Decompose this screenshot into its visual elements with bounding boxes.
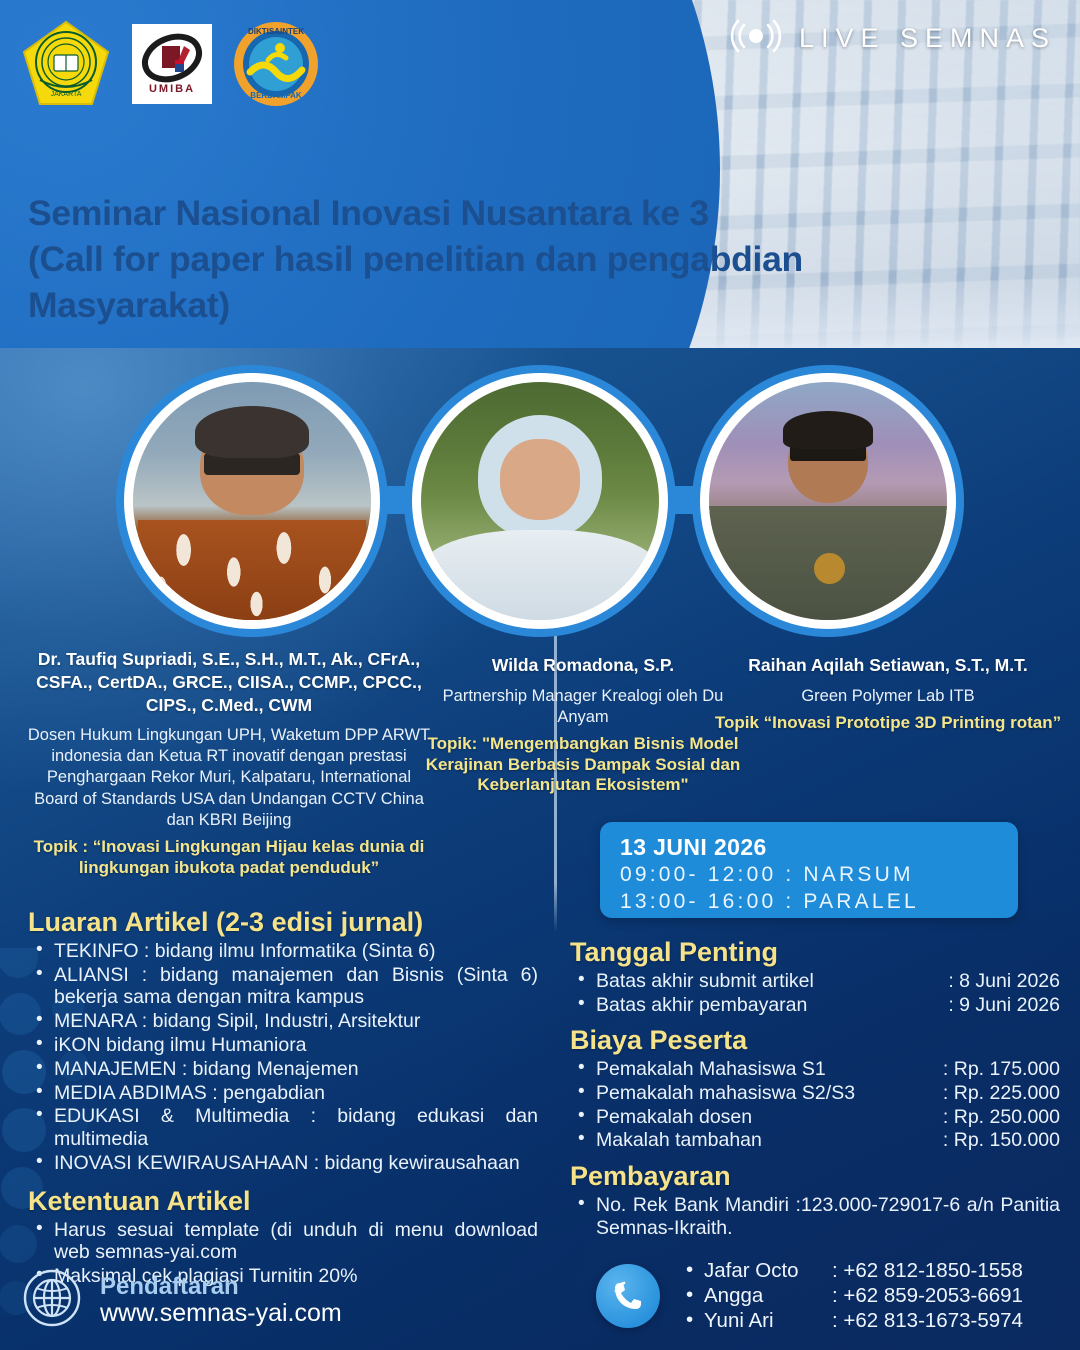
live-badge: LIVE SEMNAS xyxy=(729,18,1056,59)
speaker-name-3: Raihan Aqilah Setiawan, S.T., M.T. xyxy=(712,654,1064,677)
list-item: INOVASI KEWIRAUSAHAAN : bidang kewirausa… xyxy=(28,1152,538,1175)
registration-url[interactable]: www.semnas-yai.com xyxy=(100,1299,342,1328)
diktisaintek-logo: DIKTISAINTEK BERDAMPAK xyxy=(232,20,320,113)
title-line-2: (Call for paper hasil penelitian dan pen… xyxy=(28,236,988,282)
speaker-photos xyxy=(0,360,1080,640)
list-item: iKON bidang ilmu Humaniora xyxy=(28,1034,538,1057)
tanggal-penting-list: Batas akhir submit artikel: 8 Juni 2026 … xyxy=(570,970,1060,1017)
speaker-topic-2: Topik: "Mengembangkan Bisnis Model Keraj… xyxy=(418,734,748,796)
row-label: Batas akhir submit artikel xyxy=(596,970,814,993)
biaya-list: Pemakalah Mahasiswa S1: Rp. 175.000 Pema… xyxy=(570,1058,1060,1152)
registration-block[interactable]: Pendaftaran www.semnas-yai.com xyxy=(22,1268,342,1333)
row-value: : Rp. 225.000 xyxy=(943,1082,1060,1105)
right-column: Tanggal Penting Batas akhir submit artik… xyxy=(570,938,1060,1241)
row-value: : Rp. 175.000 xyxy=(943,1058,1060,1081)
biaya-heading: Biaya Peserta xyxy=(570,1026,1060,1056)
speaker-name-1: Dr. Taufiq Supriadi, S.E., S.H., M.T., A… xyxy=(24,648,434,716)
speaker-desc-3: Green Polymer Lab ITB xyxy=(712,686,1064,707)
row-value: : Rp. 150.000 xyxy=(943,1129,1060,1152)
title-line-3: Masyarakat) xyxy=(28,282,988,328)
row-label: Makalah tambahan xyxy=(596,1129,762,1152)
svg-text:DIKTISAINTEK: DIKTISAINTEK xyxy=(248,27,304,36)
svg-text:BERDAMPAK: BERDAMPAK xyxy=(250,91,302,100)
contact-phone[interactable]: : +62 812-1850-1558 xyxy=(832,1258,1023,1283)
speaker-avatar-3 xyxy=(692,365,964,637)
event-time-narsum: 09:00- 12:00 : NARSUM xyxy=(620,861,998,888)
contact-phone[interactable]: : +62 859-2053-6691 xyxy=(832,1283,1023,1308)
list-item: MEDIA ABDIMAS : pengabdian xyxy=(28,1082,538,1105)
speaker-topic-1: Topik : “Inovasi Lingkungan Hijau kelas … xyxy=(24,837,434,878)
contact-name: Yuni Ari xyxy=(704,1308,832,1333)
registration-text: Pendaftaran www.semnas-yai.com xyxy=(100,1274,342,1328)
contact-name: Jafar Octo xyxy=(704,1258,832,1283)
pembayaran-list: No. Rek Bank Mandiri :123.000-729017-6 a… xyxy=(570,1194,1060,1240)
speaker-desc-1: Dosen Hukum Lingkungan UPH, Waketum DPP … xyxy=(24,725,434,831)
list-item: Pemakalah mahasiswa S2/S3: Rp. 225.000 xyxy=(570,1082,1060,1105)
list-item: Batas akhir submit artikel: 8 Juni 2026 xyxy=(570,970,1060,993)
list-item: Harus sesuai template (di unduh di menu … xyxy=(28,1219,538,1265)
row-label: Batas akhir pembayaran xyxy=(596,994,807,1017)
title-line-1: Seminar Nasional Inovasi Nusantara ke 3 xyxy=(28,190,988,236)
list-item: TEKINFO : bidang ilmu Informatika (Sinta… xyxy=(28,940,538,963)
universitas-persada-indonesia-yai-logo: JAKARTA xyxy=(20,18,112,115)
row-value: : 8 Juni 2026 xyxy=(948,970,1060,993)
svg-text:JAKARTA: JAKARTA xyxy=(51,91,82,98)
list-item: MANAJEMEN : bidang Menajemen xyxy=(28,1058,538,1081)
list-item: ALIANSI : bidang manajemen dan Bisnis (S… xyxy=(28,964,538,1010)
luaran-list: TEKINFO : bidang ilmu Informatika (Sinta… xyxy=(28,940,538,1175)
svg-text:UMIBA: UMIBA xyxy=(149,83,195,95)
speaker-info-3: Raihan Aqilah Setiawan, S.T., M.T. Green… xyxy=(712,654,1064,734)
list-item: Yuni Ari: +62 813-1673-5974 xyxy=(682,1308,1023,1333)
speaker-info-2: Wilda Romadona, S.P. Partnership Manager… xyxy=(418,654,748,796)
speaker-avatar-2 xyxy=(404,365,676,637)
list-item: Pemakalah dosen: Rp. 250.000 xyxy=(570,1106,1060,1129)
poster-header: JAKARTA UMIBA DIKT xyxy=(0,0,1080,348)
luaran-heading: Luaran Artikel (2-3 edisi jurnal) xyxy=(28,908,538,938)
event-date-card: 13 JUNI 2026 09:00- 12:00 : NARSUM 13:00… xyxy=(600,822,1018,918)
speaker-topic-3: Topik “Inovasi Prototipe 3D Printing rot… xyxy=(712,713,1064,734)
poster-title: Seminar Nasional Inovasi Nusantara ke 3 … xyxy=(28,190,988,328)
list-item: No. Rek Bank Mandiri :123.000-729017-6 a… xyxy=(570,1194,1060,1240)
contact-name: Angga xyxy=(704,1283,832,1308)
pembayaran-heading: Pembayaran xyxy=(570,1162,1060,1192)
logo-group: JAKARTA UMIBA DIKT xyxy=(20,18,320,115)
globe-icon xyxy=(22,1268,82,1333)
speaker-name-2: Wilda Romadona, S.P. xyxy=(418,654,748,677)
list-item: Batas akhir pembayaran: 9 Juni 2026 xyxy=(570,994,1060,1017)
list-item: EDUKASI & Multimedia : bidang edukasi da… xyxy=(28,1105,538,1151)
row-label: Pemakalah mahasiswa S2/S3 xyxy=(596,1082,855,1105)
phone-icon xyxy=(596,1264,660,1328)
contact-list: Jafar Octo: +62 812-1850-1558 Angga: +62… xyxy=(682,1258,1023,1333)
speaker-info-1: Dr. Taufiq Supriadi, S.E., S.H., M.T., A… xyxy=(24,648,434,878)
broadcast-icon xyxy=(729,18,783,59)
event-time-paralel: 13:00- 16:00 : PARALEL xyxy=(620,888,998,915)
row-value: : 9 Juni 2026 xyxy=(948,994,1060,1017)
live-badge-label: LIVE SEMNAS xyxy=(799,23,1056,54)
ketentuan-heading: Ketentuan Artikel xyxy=(28,1187,538,1217)
contact-block: Jafar Octo: +62 812-1850-1558 Angga: +62… xyxy=(596,1258,1023,1333)
speaker-avatar-1 xyxy=(116,365,388,637)
contact-phone[interactable]: : +62 813-1673-5974 xyxy=(832,1308,1023,1333)
tanggal-penting-heading: Tanggal Penting xyxy=(570,938,1060,968)
row-label: Pemakalah Mahasiswa S1 xyxy=(596,1058,826,1081)
row-label: Pemakalah dosen xyxy=(596,1106,752,1129)
umiba-logo: UMIBA xyxy=(132,24,212,109)
list-item: Makalah tambahan: Rp. 150.000 xyxy=(570,1129,1060,1152)
left-column: Luaran Artikel (2-3 edisi jurnal) TEKINF… xyxy=(28,908,538,1289)
event-date: 13 JUNI 2026 xyxy=(620,834,998,861)
speaker-desc-2: Partnership Manager Krealogi oleh Du Any… xyxy=(418,686,748,728)
registration-label: Pendaftaran xyxy=(100,1274,342,1299)
list-item: Angga: +62 859-2053-6691 xyxy=(682,1283,1023,1308)
list-item: Jafar Octo: +62 812-1850-1558 xyxy=(682,1258,1023,1283)
list-item: MENARA : bidang Sipil, Industri, Arsitek… xyxy=(28,1010,538,1033)
row-value: : Rp. 250.000 xyxy=(943,1106,1060,1129)
list-item: Pemakalah Mahasiswa S1: Rp. 175.000 xyxy=(570,1058,1060,1081)
